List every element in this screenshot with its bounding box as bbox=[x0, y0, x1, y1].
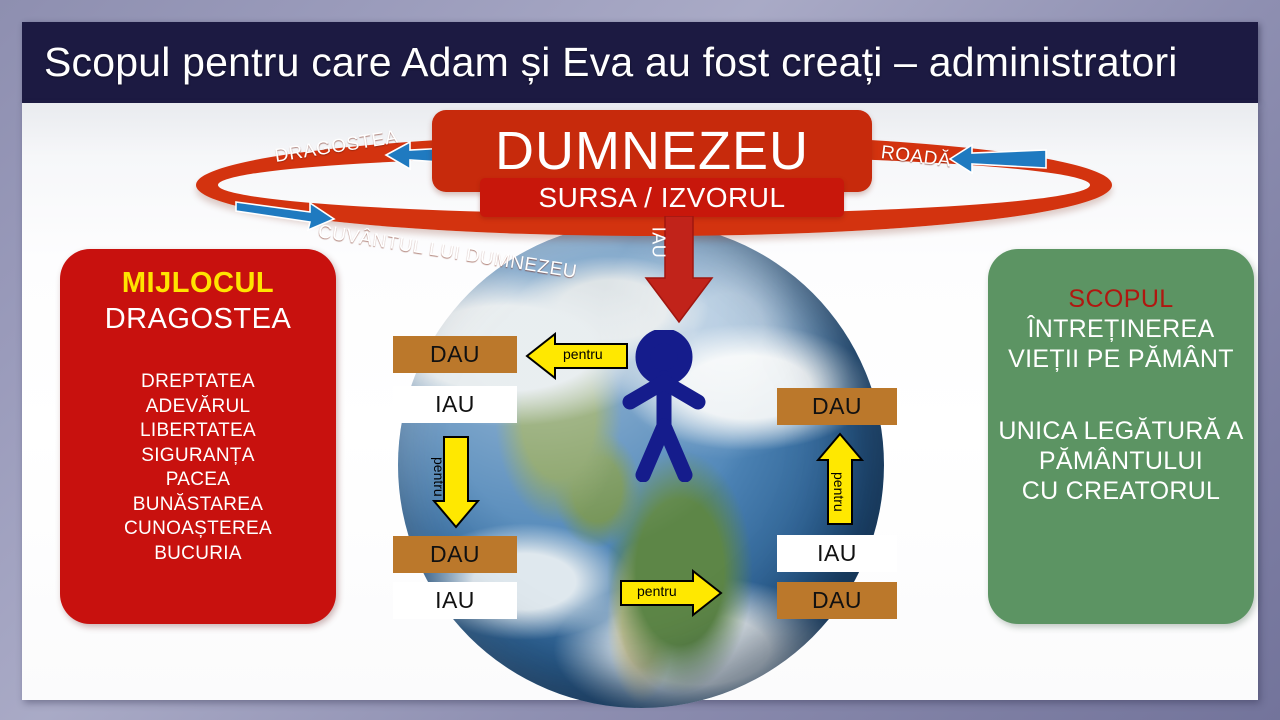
right-panel-line: ÎNTREȚINEREA bbox=[996, 314, 1246, 344]
yellow-arrow-down: pentru bbox=[432, 435, 480, 534]
flow-box-left-bottom-iau: IAU bbox=[393, 582, 517, 619]
yellow-arrow-left-label: pentru bbox=[563, 346, 603, 362]
flow-box-right-bottom-dau: DAU bbox=[777, 582, 897, 619]
list-item: DREPTATEA bbox=[60, 370, 336, 395]
right-panel-line: CU CREATORUL bbox=[996, 476, 1246, 506]
list-item: BUCURIA bbox=[60, 542, 336, 567]
list-item: CUNOAȘTEREA bbox=[60, 517, 336, 542]
left-panel-subheading: DRAGOSTEA bbox=[60, 303, 336, 336]
yellow-arrow-up: pentru bbox=[816, 432, 864, 531]
steward-person-figure bbox=[616, 330, 712, 482]
right-panel-line: PĂMÂNTULUI bbox=[996, 446, 1246, 476]
right-panel-heading: SCOPUL bbox=[996, 285, 1246, 314]
right-panel-line: VIEȚII PE PĂMÂNT bbox=[996, 344, 1246, 374]
right-panel-scopul: SCOPUL ÎNTREȚINEREA VIEȚII PE PĂMÂNT UNI… bbox=[988, 249, 1254, 624]
list-item: SIGURANȚA bbox=[60, 444, 336, 469]
yellow-arrow-up-label: pentru bbox=[831, 472, 847, 512]
left-panel-heading: MIJLOCUL bbox=[60, 267, 336, 300]
flow-box-right-bottom-iau: IAU bbox=[777, 535, 897, 572]
left-panel-list: DREPTATEA ADEVĂRUL LIBERTATEA SIGURANȚA … bbox=[60, 370, 336, 566]
right-panel-block-1: ÎNTREȚINEREA VIEȚII PE PĂMÂNT bbox=[996, 314, 1246, 374]
blue-arrow-to-cuvantul bbox=[232, 196, 338, 234]
left-panel-mijlocul: MIJLOCUL DRAGOSTEA DREPTATEA ADEVĂRUL LI… bbox=[60, 249, 336, 624]
blue-arrow-to-roada bbox=[946, 142, 1052, 176]
list-item: ADEVĂRUL bbox=[60, 395, 336, 420]
slide-title-bar: Scopul pentru care Adam și Eva au fost c… bbox=[22, 22, 1258, 103]
god-box-label: DUMNEZEU bbox=[495, 120, 809, 182]
flow-box-right-top-dau: DAU bbox=[777, 388, 897, 425]
source-box-label: SURSA / IZVORUL bbox=[538, 182, 785, 214]
red-down-arrow-label: IAU bbox=[648, 221, 669, 265]
page-title: Scopul pentru care Adam și Eva au fost c… bbox=[22, 39, 1178, 86]
list-item: LIBERTATEA bbox=[60, 419, 336, 444]
yellow-arrow-down-label: pentru bbox=[431, 457, 447, 497]
list-item: PACEA bbox=[60, 468, 336, 493]
list-item: BUNĂSTAREA bbox=[60, 493, 336, 518]
yellow-arrow-right-label: pentru bbox=[637, 583, 677, 599]
slide-stage: Scopul pentru care Adam și Eva au fost c… bbox=[0, 0, 1280, 720]
flow-box-left-bottom-dau: DAU bbox=[393, 536, 517, 573]
right-panel-line: UNICA LEGĂTURĂ A bbox=[996, 416, 1246, 446]
yellow-arrow-left: pentru bbox=[525, 332, 629, 385]
yellow-arrow-right: pentru bbox=[619, 569, 723, 622]
right-panel-block-2: UNICA LEGĂTURĂ A PĂMÂNTULUI CU CREATORUL bbox=[996, 416, 1246, 506]
flow-box-left-top-iau: IAU bbox=[393, 386, 517, 423]
source-box: SURSA / IZVORUL bbox=[480, 178, 844, 217]
flow-box-left-top-dau: DAU bbox=[393, 336, 517, 373]
